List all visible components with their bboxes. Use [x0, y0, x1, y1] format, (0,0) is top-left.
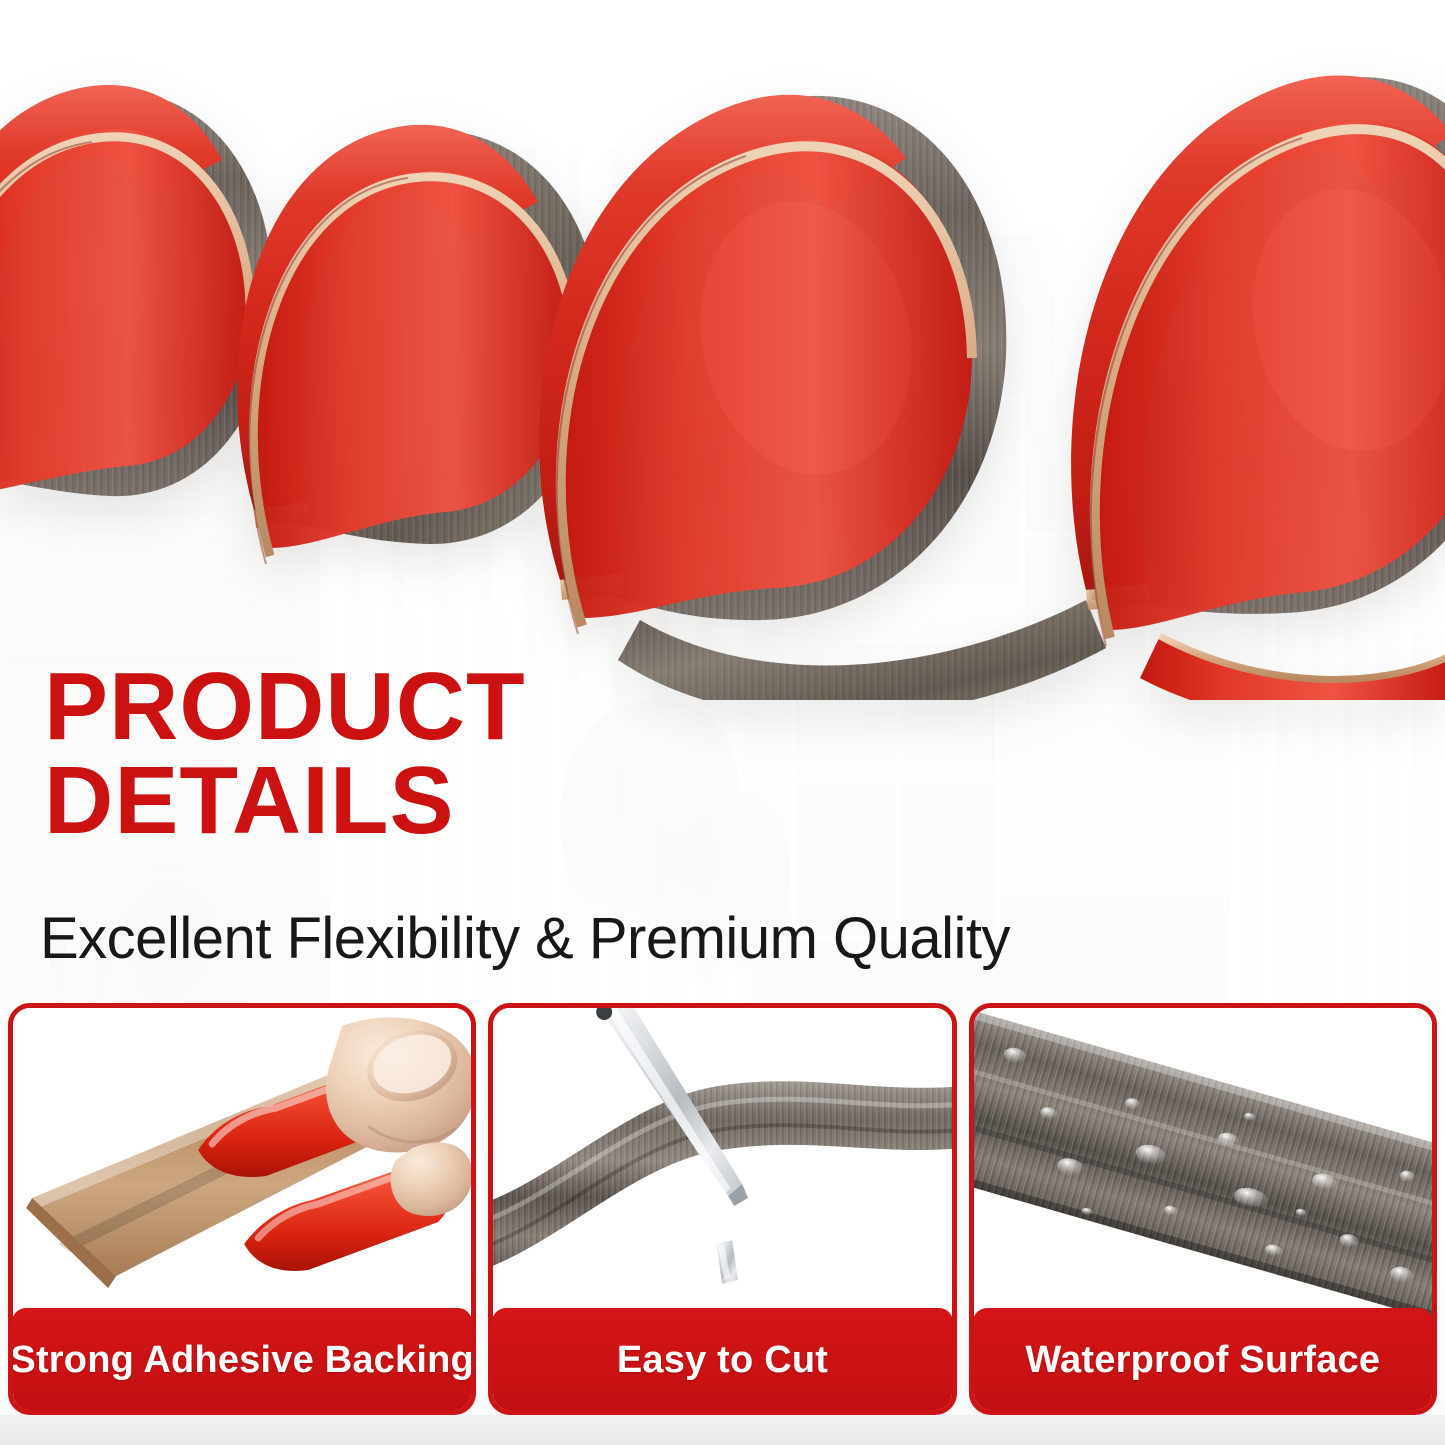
page-subtitle: Excellent Flexibility & Premium Quality: [40, 905, 1010, 972]
page-title-line-2: DETAILS: [44, 754, 526, 848]
bottom-edge-strip: [0, 1415, 1445, 1445]
peel-liner-icon: [13, 1008, 471, 1320]
product-details-infographic: PRODUCT DETAILS Excellent Flexibility & …: [0, 0, 1445, 1445]
panel-caption-adhesive: Strong Adhesive Backing: [12, 1308, 472, 1412]
hero-coiled-tape-group: [0, 0, 1445, 700]
feature-photo-waterproof: [974, 1008, 1432, 1320]
coil-4: [1071, 75, 1445, 700]
coiled-tape-illustration: [0, 0, 1445, 700]
feature-photo-cut: [493, 1008, 951, 1320]
feature-panel-cut[interactable]: Easy to Cut: [488, 1003, 956, 1415]
scissors-icon: [493, 1008, 951, 1320]
feature-panel-waterproof[interactable]: Waterproof Surface: [969, 1003, 1437, 1415]
feature-photo-adhesive: [13, 1008, 471, 1320]
panel-caption-cut: Easy to Cut: [492, 1308, 952, 1412]
feature-panel-group: Strong Adhesive Backing: [0, 1003, 1445, 1423]
coil-1: [0, 85, 273, 512]
feature-panel-adhesive[interactable]: Strong Adhesive Backing: [8, 1003, 476, 1415]
page-title: PRODUCT DETAILS: [44, 660, 526, 848]
page-title-line-1: PRODUCT: [44, 660, 526, 754]
water-drop-icon: [974, 1008, 1432, 1320]
window-mullion-horizontal: [796, 778, 994, 783]
coil-3: [539, 95, 1106, 700]
panel-caption-waterproof: Waterproof Surface: [973, 1308, 1433, 1412]
